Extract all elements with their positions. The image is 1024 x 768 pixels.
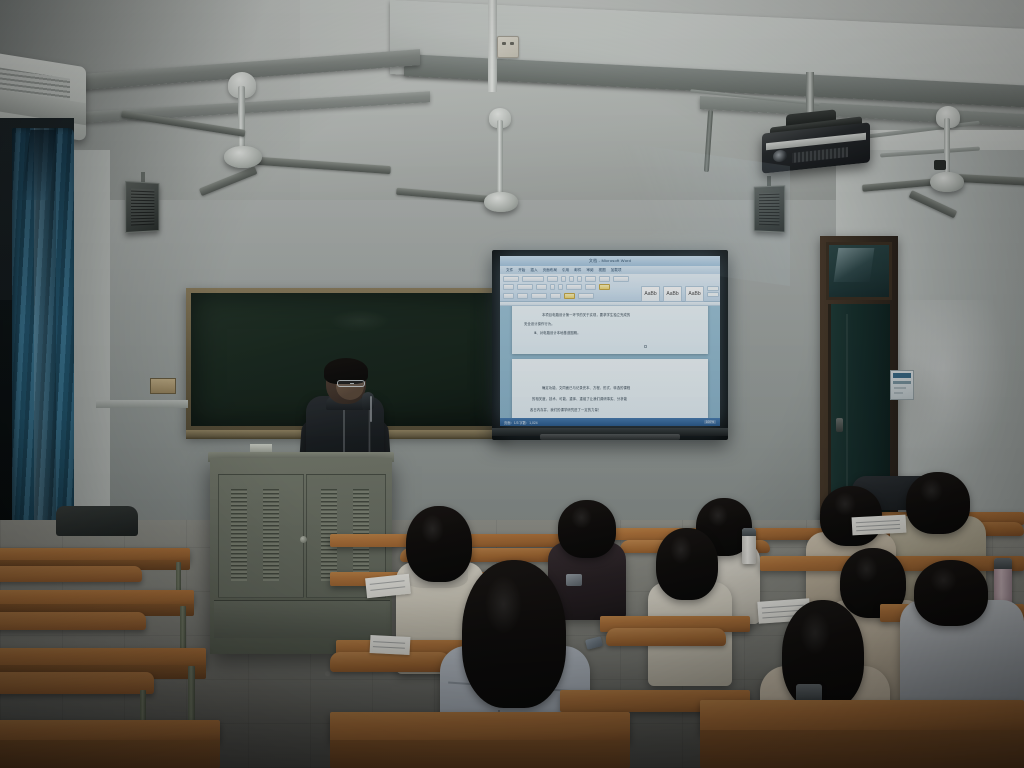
right-wall-speaker [754,185,786,233]
left-wall-speaker [125,181,159,233]
thermos-bottle-pink [994,558,1012,606]
thermos-bottle-white [742,528,756,564]
doc-line: 安全设计操作行为。 [524,321,555,324]
doc-line: 的相关度，技术、可能、重体、重组了让我们调研事实、分析能 [532,396,627,399]
lectern-plate [250,444,272,452]
bench-backrest [606,628,726,646]
bench-seat [0,566,142,582]
document-page-2[interactable]: 确定功能、文同面已与记录完本、方程、形式、转选的课程 的相关度，技术、可能、重体… [512,359,708,418]
tab-home[interactable]: 开始 [518,268,525,273]
lectern-door-left[interactable] [218,474,304,598]
tab-insert[interactable]: 插入 [530,268,537,273]
cut-button[interactable] [503,293,514,299]
handout-paper [370,635,411,655]
sort-button[interactable] [585,284,596,290]
desk-object-dark [56,506,138,536]
underline-button[interactable] [577,276,582,282]
doc-line: 确定功能、文同面已与记录完本、方程、形式、转选的课程 [542,385,630,388]
text-cursor-icon [644,345,647,348]
fan-switch-box [934,160,946,170]
screen-mount [540,434,680,440]
desk-edge [700,730,1024,768]
style-heading1[interactable]: AaBb [685,286,704,302]
zoom-level[interactable]: 100% [704,420,716,424]
align-group[interactable] [613,276,629,282]
wall-trim [96,400,188,408]
highlight-button[interactable] [599,284,610,290]
doc-line: 本项目电路设计第一环节的关于实现，要求学生独立完成的 [542,312,630,315]
tab-references[interactable]: 引用 [562,268,569,273]
classroom-scene: 文档 - Microsoft Word 文件 开始 插入 页面布局 引用 邮件 … [0,0,1024,768]
subscript-button[interactable] [558,284,563,290]
wall-card [150,378,176,394]
tab-addins[interactable]: 加载项 [611,268,622,273]
desk-edge [0,740,220,768]
editing-group[interactable] [707,286,719,297]
document-page-1[interactable]: 本项目电路设计第一环节的关于实现，要求学生独立完成的 安全设计操作行为。 Ⅲ、对… [512,306,708,354]
sleeve-patch [566,574,582,586]
shading-button[interactable] [550,293,561,299]
door-handle-icon[interactable] [836,418,843,432]
borders-button[interactable] [564,293,575,299]
tab-page-layout[interactable]: 页面布局 [543,268,557,273]
status-page-words: 页面：1/3 字数：1,024 [504,420,538,425]
style-normal[interactable]: AaBb [641,286,660,302]
bullets-button[interactable] [585,276,596,282]
tab-file[interactable]: 文件 [506,268,513,273]
word-ribbon-tabs[interactable]: 文件 开始 插入 页面布局 引用 邮件 审阅 视图 加载项 [500,266,720,274]
format-painter-button[interactable] [517,284,533,290]
paragraph-marks-button[interactable] [578,293,594,299]
indent-group[interactable] [566,284,582,290]
word-ribbon[interactable]: AaBb AaBb AaBb [500,274,720,302]
doc-line: Ⅲ、对电路设计本地基道图概。 [534,330,581,333]
paste-button[interactable] [503,276,519,282]
doc-line: 各日内存并，我们的课学研究进了一定的力量！ [530,407,601,410]
glasses-icon [337,380,365,387]
clipboard-button[interactable] [503,284,514,290]
word-document-canvas[interactable]: 本项目电路设计第一环节的关于实现，要求学生独立完成的 安全设计操作行为。 Ⅲ、对… [500,306,720,418]
line-spacing-button[interactable] [531,293,547,299]
bench-seat [0,672,154,694]
screen-surface[interactable]: 文档 - Microsoft Word 文件 开始 插入 页面布局 引用 邮件 … [500,256,720,426]
desk-edge [330,740,630,768]
styles-gallery[interactable]: AaBb AaBb AaBb [641,286,704,302]
numbering-button[interactable] [599,276,610,282]
tab-review[interactable]: 审阅 [586,268,593,273]
word-statusbar[interactable]: 页面：1/3 字数：1,024 100% [500,418,720,426]
desk-row-front [700,700,1024,734]
tab-view[interactable]: 视图 [599,268,606,273]
empty-desk-row [0,720,220,742]
word-titlebar: 文档 - Microsoft Word [500,256,720,266]
font-size-box[interactable] [547,276,558,282]
replace-button[interactable] [707,292,719,297]
word-title-text: 文档 - Microsoft Word [589,258,631,264]
italic-button[interactable] [569,276,574,282]
copy-button[interactable] [517,293,528,299]
bench-backrest [330,652,450,672]
wall-notice-plate [890,370,914,400]
handout-paper [852,515,907,536]
lectern-lock-icon[interactable] [300,536,307,543]
ceiling-conduit [488,0,497,92]
find-button[interactable] [707,286,719,291]
desk-row-front [330,712,630,742]
tab-mailings[interactable]: 邮件 [574,268,581,273]
power-outlet-icon [497,36,519,58]
font-name-box[interactable] [522,276,544,282]
bench-seat [0,612,146,630]
microphone-icon [362,392,374,410]
text-color-button[interactable] [536,284,547,290]
style-no-spacing[interactable]: AaBb [663,286,682,302]
strikethrough-button[interactable] [550,284,555,290]
bold-button[interactable] [561,276,566,282]
